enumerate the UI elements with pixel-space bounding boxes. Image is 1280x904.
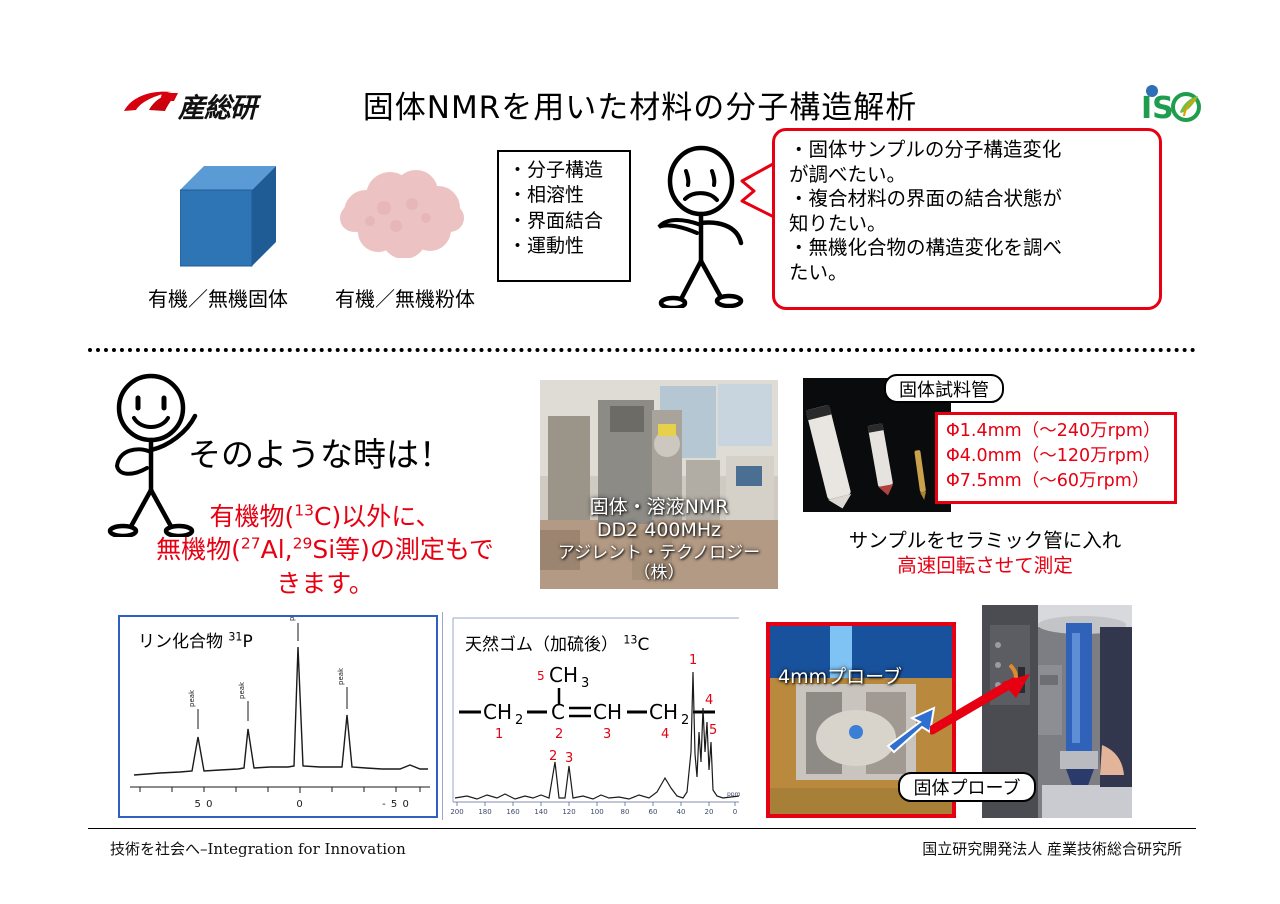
- footer-organization: 国立研究開発法人 産業技術総合研究所: [922, 838, 1182, 859]
- rpm-spec-item: Φ4.0mm（～120万rpm）: [946, 444, 1174, 469]
- slide-root: 産総研 固体NMRを用いた材料の分子構造解析 IS: [0, 0, 1280, 904]
- properties-box: ・分子構造 ・相溶性 ・界面結合 ・運動性: [497, 150, 631, 282]
- overlay-line-3: アジレント・テクノロジー（株）: [540, 543, 778, 584]
- iso-eco-logo-icon: IS: [1140, 82, 1202, 126]
- headline-text: そのような時は！: [188, 428, 452, 476]
- footer-divider: [88, 828, 1196, 829]
- peak-label-1: 1: [689, 653, 697, 668]
- svg-text:160: 160: [506, 808, 519, 816]
- overlay-line-2: DD2 400MHz: [540, 519, 778, 542]
- chart-carbon-nmr: 天然ゴム（加硫後） 13C 5 CH 3 CH 2 C CH CH 2 1 2 …: [442, 612, 742, 820]
- blue-cube-shape: [180, 162, 280, 270]
- svg-text:60: 60: [649, 808, 658, 816]
- red-line-3: きます。: [120, 567, 530, 600]
- svg-text:0: 0: [733, 808, 737, 816]
- section-divider: [88, 348, 1196, 352]
- property-item: ・運動性: [508, 234, 629, 259]
- svg-text:80: 80: [621, 808, 630, 816]
- svg-text:0: 0: [296, 799, 303, 810]
- property-item: ・界面結合: [508, 209, 629, 234]
- svg-text:200: 200: [450, 808, 463, 816]
- red-highlight-text: 有機物(13C)以外に、 無機物(27Al,29Si等)の測定もで きます。: [120, 500, 530, 600]
- slide-header: 産総研 固体NMRを用いた材料の分子構造解析 IS: [0, 38, 1280, 98]
- chart-phosphorus-nmr: リン化合物 31P peak peak peak peak: [118, 615, 438, 818]
- ceramic-caption: サンプルをセラミック管に入れ 高速回転させて測定: [790, 528, 1180, 579]
- svg-text:peak: peak: [238, 681, 246, 699]
- bubble-line: ・無機化合物の構造変化を調べ: [789, 236, 1149, 261]
- svg-text:180: 180: [478, 808, 491, 816]
- speech-bubble: ・固体サンプルの分子構造変化 が調べたい。 ・複合材料の界面の結合状態が 知りた…: [772, 128, 1162, 310]
- red-arrow-icon: [930, 668, 1040, 738]
- svg-text:20: 20: [705, 808, 714, 816]
- sample-tube-label: 固体試料管: [884, 374, 1004, 403]
- rpm-spec-item: Φ1.4mm（～240万rpm）: [946, 419, 1174, 444]
- bubble-line: ・複合材料の界面の結合状態が: [789, 187, 1149, 212]
- svg-text:40: 40: [677, 808, 686, 816]
- overlay-line-1: 固体・溶液NMR: [540, 496, 778, 519]
- svg-text:140: 140: [534, 808, 547, 816]
- peak-label-4: 4: [705, 693, 713, 708]
- nmr-photo-overlay: 固体・溶液NMR DD2 400MHz アジレント・テクノロジー（株）: [540, 496, 778, 584]
- probe-overlay-label: 4mmプローブ: [778, 662, 902, 689]
- rpm-spec-box: Φ1.4mm（～240万rpm） Φ4.0mm（～120万rpm） Φ7.5mm…: [935, 412, 1177, 504]
- svg-text:peak: peak: [288, 617, 296, 621]
- svg-text:ppm: ppm: [727, 791, 741, 798]
- caption-powder: 有機／無機粉体: [310, 283, 500, 312]
- ceramic-caption-line-1: サンプルをセラミック管に入れ: [790, 528, 1180, 553]
- property-item: ・分子構造: [508, 158, 629, 183]
- page-title: 固体NMRを用いた材料の分子構造解析: [0, 82, 1280, 127]
- peak-label-2: 2: [549, 749, 557, 764]
- caption-solid: 有機／無機固体: [118, 283, 318, 312]
- svg-text:5 0: 5 0: [195, 799, 214, 810]
- bubble-line: ・固体サンプルの分子構造変化: [789, 138, 1149, 163]
- solid-probe-label: 固体プローブ: [898, 772, 1036, 802]
- nmr-instrument-photo: 固体・溶液NMR DD2 400MHz アジレント・テクノロジー（株）: [540, 380, 778, 589]
- pink-powder-cloud-shape: [338, 166, 466, 258]
- bubble-line: が調べたい。: [789, 163, 1149, 188]
- peak-label-3: 3: [565, 751, 573, 766]
- red-line-2: 無機物(27Al,29Si等)の測定もで: [120, 533, 530, 566]
- chart-p-title: リン化合物 31P: [138, 627, 253, 652]
- footer-tagline: 技術を社会へ–Integration for Innovation: [110, 838, 406, 859]
- svg-text:- 5 0: - 5 0: [382, 799, 410, 810]
- bubble-line: たい。: [789, 261, 1149, 286]
- bubble-line: 知りたい。: [789, 212, 1149, 237]
- ceramic-caption-line-2: 高速回転させて測定: [790, 553, 1180, 578]
- property-item: ・相溶性: [508, 183, 629, 208]
- peak-label-5: 5: [709, 723, 717, 738]
- red-line-1: 有機物(13C)以外に、: [120, 500, 530, 533]
- svg-text:100: 100: [590, 808, 603, 816]
- svg-text:peak: peak: [188, 689, 196, 707]
- svg-text:IS: IS: [1141, 91, 1174, 126]
- svg-text:120: 120: [562, 808, 575, 816]
- rpm-spec-item: Φ7.5mm（～60万rpm）: [946, 469, 1174, 494]
- chart-c-plot: 2 3 1 4 5 200180160 140120100 806040 200: [443, 612, 742, 820]
- svg-text:peak: peak: [337, 667, 345, 685]
